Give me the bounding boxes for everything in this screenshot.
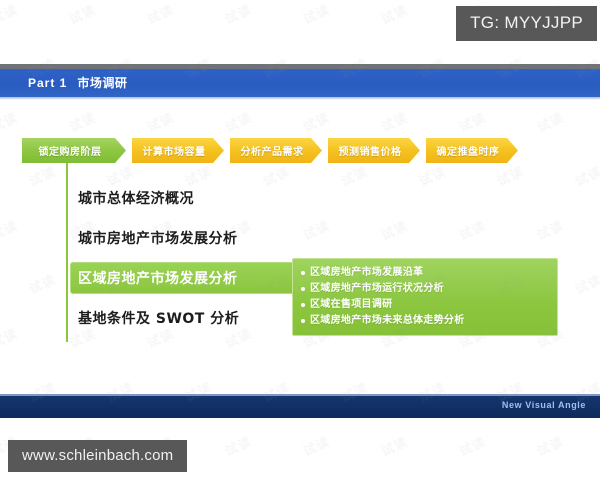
header-band-shadow [0,97,600,100]
watermark-text: 试读 [493,161,526,190]
watermark-text: 试读 [533,431,566,460]
watermark-text: 试读 [415,161,448,190]
bullet-dot-icon [301,287,305,291]
watermark-text: 试读 [143,107,176,136]
bullet-dot-icon [301,303,305,307]
watermark-text: 试读 [455,215,488,244]
watermark-text: 试读 [221,0,254,28]
watermark-text: 试读 [455,107,488,136]
bullet-dot-icon [301,271,305,275]
watermark-text: 试读 [299,0,332,28]
detail-bullet-4-label: 区域房地产市场未来总体走势分析 [310,313,465,329]
watermark-text: 试读 [0,0,21,28]
site-url-bar: www.schleinbach.com [8,440,187,472]
connector-line [66,162,68,342]
watermark-text: 试读 [571,269,600,298]
watermark-text: 试读 [65,0,98,28]
detail-bullet-1-label: 区域房地产市场发展沿革 [310,265,423,281]
watermark-text: 试读 [299,431,332,460]
watermark-text: 试读 [377,431,410,460]
slide-canvas: Part 1市场调研 锁定购房阶层 计算市场容量 分析产品需求 预测销售价格 确… [0,0,600,480]
page-title: Part 1市场调研 [28,74,127,91]
watermark-text: 试读 [0,107,21,136]
watermark-text: 试读 [533,107,566,136]
watermark-text: 试读 [299,107,332,136]
tg-badge: TG: MYYJJPP [456,6,597,41]
process-step-3[interactable]: 分析产品需求 [230,138,322,163]
footer-divider [0,394,600,396]
watermark-text: 试读 [337,161,370,190]
bullet-dot-icon [301,319,305,323]
detail-panel: 区域房地产市场发展沿革 区域房地产市场运行状况分析 区域在售项目调研 区域房地产… [292,258,558,336]
page-title-cn: 市场调研 [77,76,127,90]
watermark-text: 试读 [65,107,98,136]
page-title-part: Part 1 [28,76,67,90]
watermark-text: 试读 [221,107,254,136]
watermark-text: 试读 [0,215,21,244]
detail-bullet-2-label: 区域房地产市场运行状况分析 [310,281,444,297]
watermark-text: 试读 [455,431,488,460]
watermark-text: 试读 [25,161,58,190]
watermark-text: 试读 [377,107,410,136]
process-step-2[interactable]: 计算市场容量 [132,138,224,163]
detail-bullet-3: 区域在售项目调研 [301,297,549,313]
footer-brand-label: New Visual Angle [502,400,586,410]
detail-bullet-3-label: 区域在售项目调研 [310,297,392,313]
watermark-text: 试读 [377,215,410,244]
watermark-text: 试读 [143,0,176,28]
outline-item-2[interactable]: 城市房地产市场发展分析 [70,222,300,254]
watermark-text: 试读 [0,323,21,352]
watermark-text: 试读 [299,215,332,244]
outline-list: 城市总体经济概况 城市房地产市场发展分析 区域房地产市场发展分析 基地条件及 S… [70,182,300,342]
watermark-text: 试读 [533,215,566,244]
watermark-text: 试读 [25,269,58,298]
detail-bullet-1: 区域房地产市场发展沿革 [301,265,549,281]
process-step-5[interactable]: 确定推盘时序 [426,138,518,163]
watermark-text: 试读 [571,161,600,190]
process-step-1[interactable]: 锁定购房阶层 [22,138,126,163]
process-step-4[interactable]: 预测销售价格 [328,138,420,163]
detail-bullet-4: 区域房地产市场未来总体走势分析 [301,313,549,329]
outline-item-4[interactable]: 基地条件及 SWOT 分析 [70,302,300,334]
outline-item-3-active[interactable]: 区域房地产市场发展分析 [70,262,300,294]
watermark-text: 试读 [221,431,254,460]
outline-item-1[interactable]: 城市总体经济概况 [70,182,300,214]
process-flow: 锁定购房阶层 计算市场容量 分析产品需求 预测销售价格 确定推盘时序 [22,138,524,163]
detail-bullet-2: 区域房地产市场运行状况分析 [301,281,549,297]
watermark-text: 试读 [377,0,410,28]
